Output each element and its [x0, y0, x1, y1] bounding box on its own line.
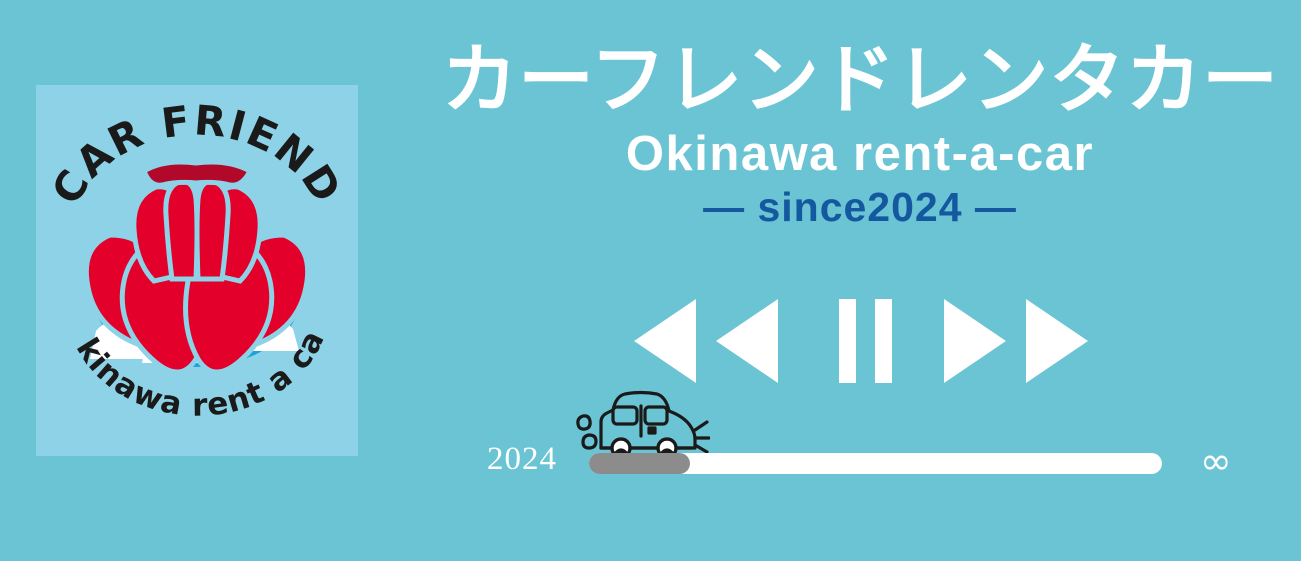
logo-artwork: CAR FRIEND Okinawa rent a car — [36, 85, 358, 456]
since-label: — since2024 — — [440, 184, 1280, 231]
car-friend-logo: CAR FRIEND Okinawa rent a car — [36, 85, 358, 456]
page-title: カーフレンドレンタカー — [440, 40, 1280, 120]
page-subtitle: Okinawa rent-a-car — [440, 126, 1280, 182]
fast-forward-icon[interactable] — [1026, 299, 1088, 383]
play-icon[interactable] — [944, 299, 1006, 383]
timeline-start-label: 2024 — [487, 443, 557, 476]
pause-bar-left — [839, 299, 856, 383]
title-block: カーフレンドレンタカー Okinawa rent-a-car — since20… — [440, 40, 1280, 231]
timeline-row: 2024 — [470, 385, 1260, 485]
progress-bar-track[interactable] — [589, 453, 1162, 474]
media-controls — [634, 299, 1094, 383]
rewind-icon[interactable] — [716, 299, 778, 383]
pause-bar-right — [875, 299, 892, 383]
progress-bar-fill — [589, 453, 690, 474]
timeline-end-label: ∞ — [1200, 442, 1232, 480]
rewind-icon[interactable] — [634, 299, 696, 383]
promo-banner: CAR FRIEND Okinawa rent a car カーフレンドレンタカ… — [0, 0, 1301, 561]
pause-icon[interactable] — [839, 299, 892, 383]
